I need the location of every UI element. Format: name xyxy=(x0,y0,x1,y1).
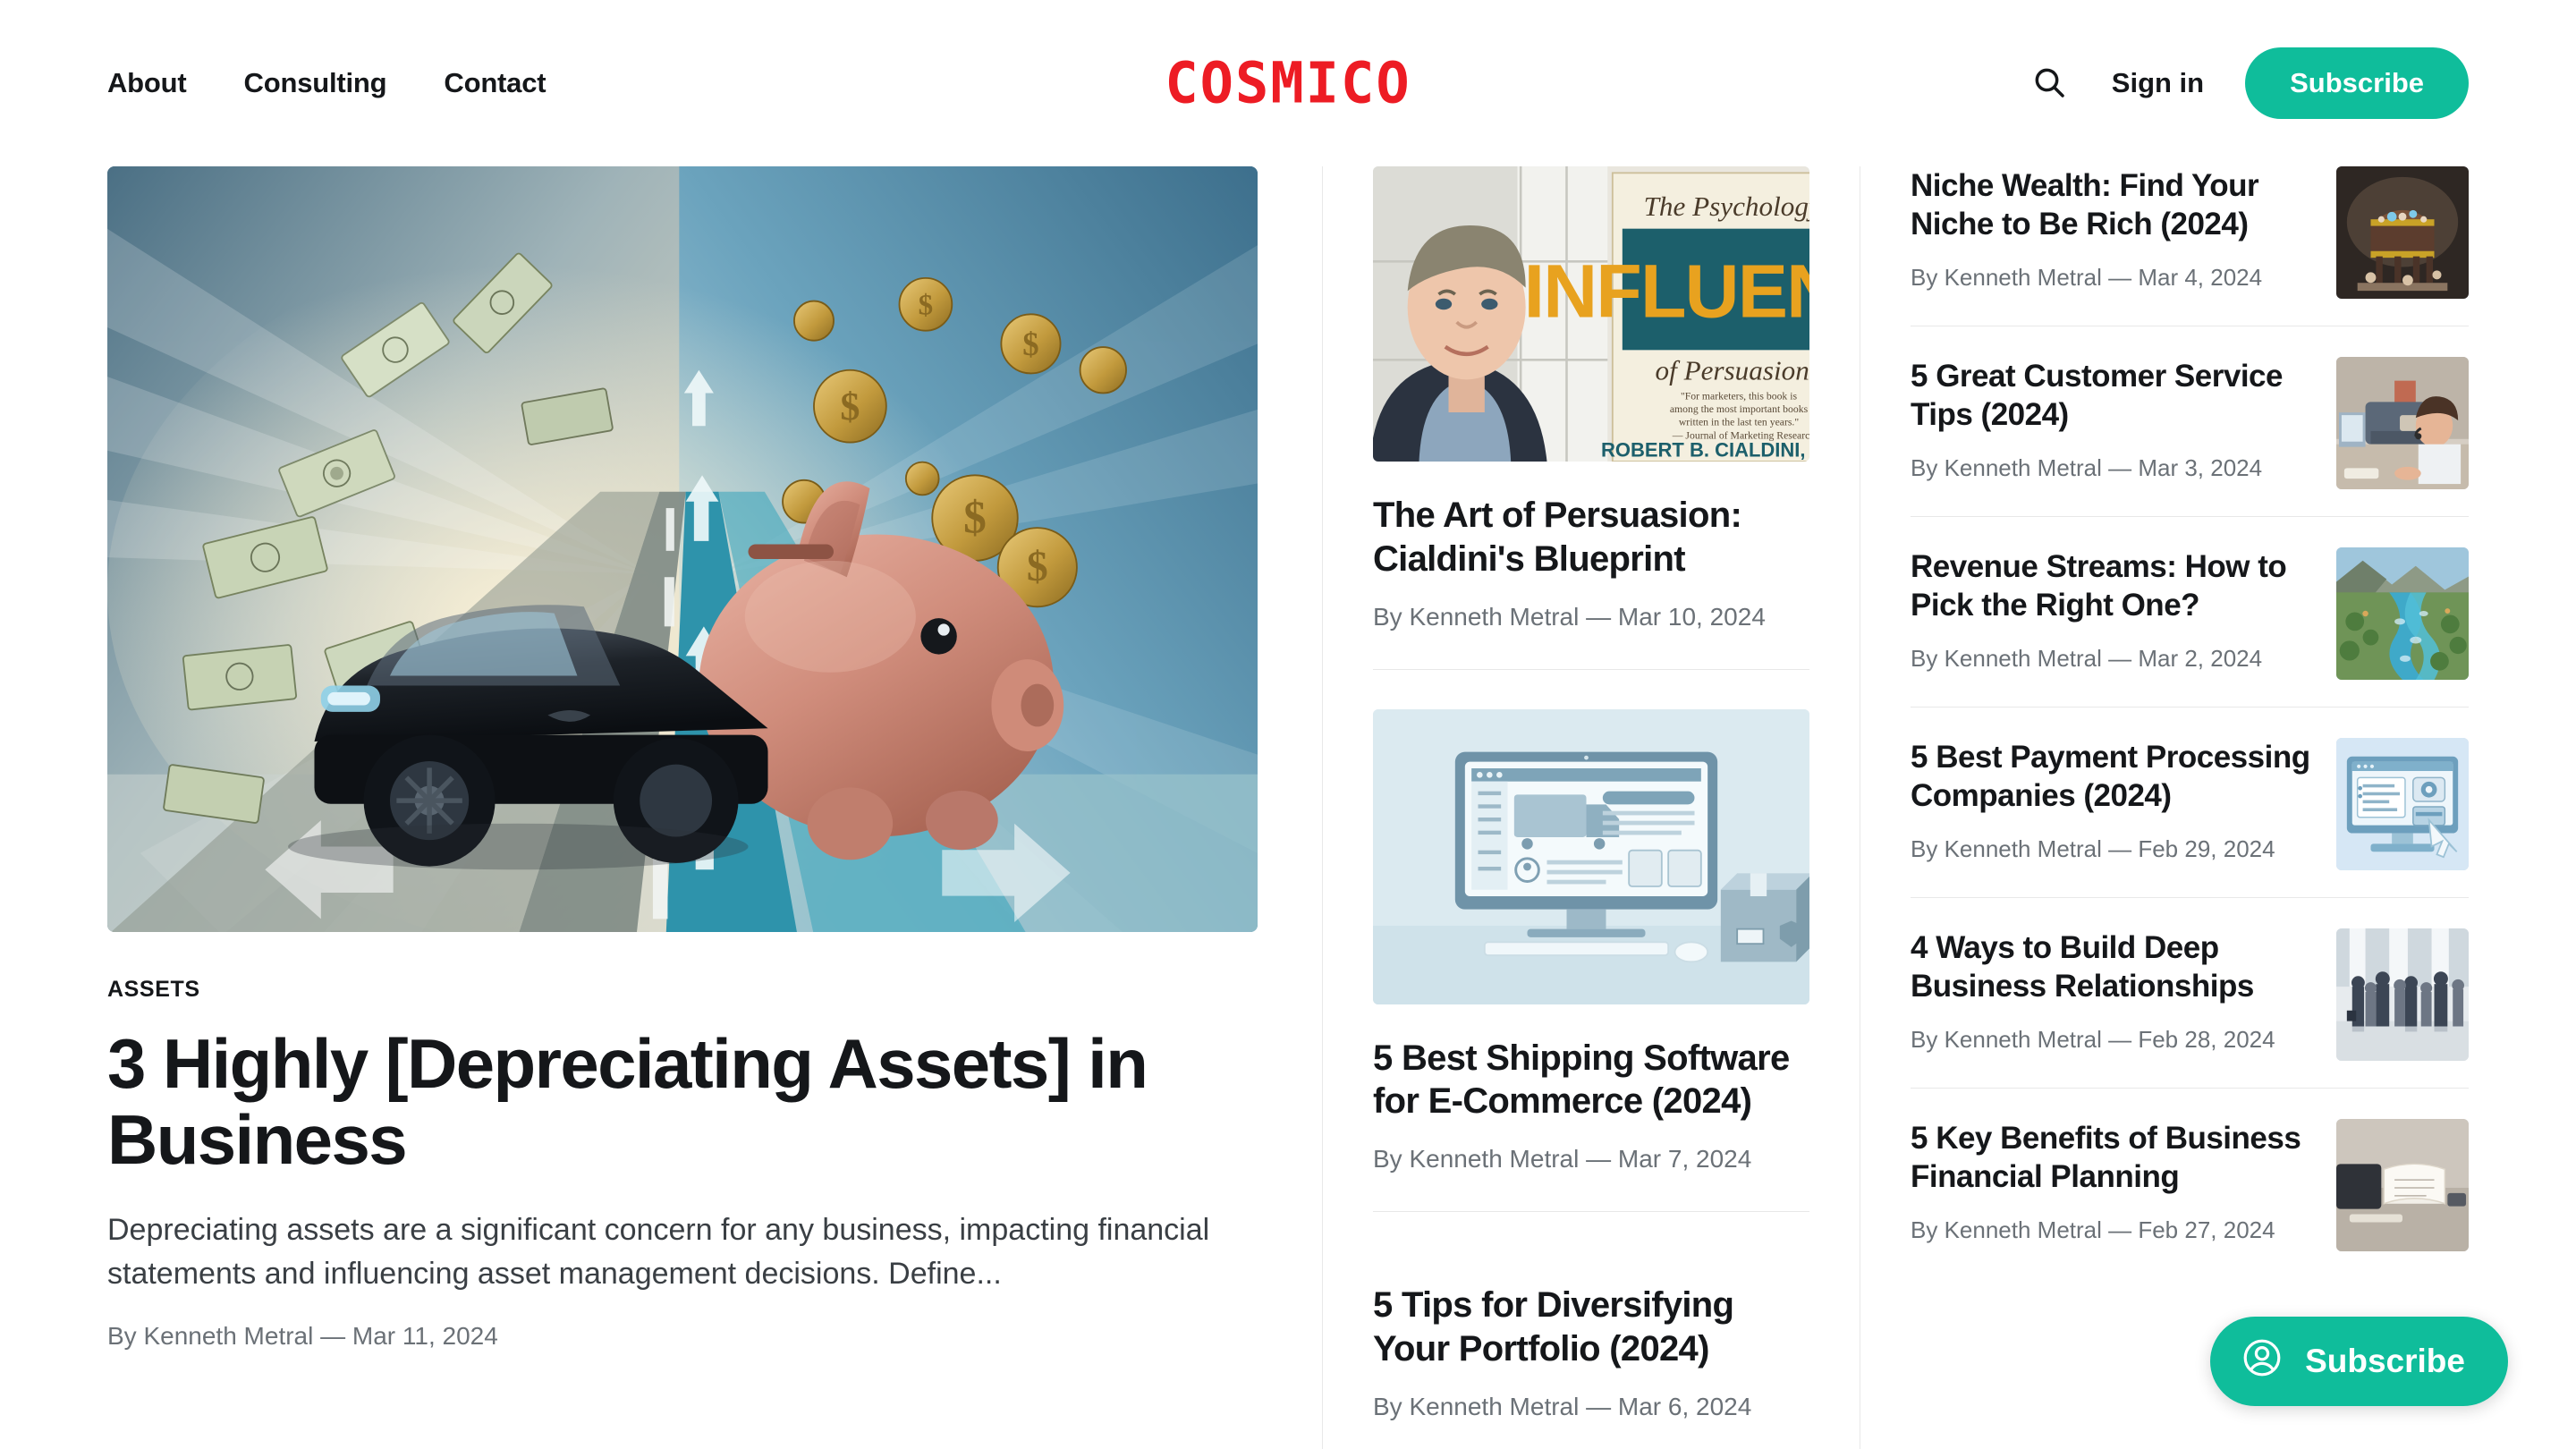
svg-text:among the most important books: among the most important books xyxy=(1670,403,1809,415)
svg-text:written in the last ten years.: written in the last ten years." xyxy=(1679,417,1800,428)
sidebar-article-title[interactable]: 5 Key Benefits of Business Financial Pla… xyxy=(1911,1119,2313,1197)
latest-articles-sidebar: Niche Wealth: Find Your Niche to Be Rich… xyxy=(1860,166,2469,1449)
secondary-article-column: The Psychology INFLUENCE of Persuasion "… xyxy=(1323,166,1860,1449)
customer-service-agent-icon xyxy=(2336,357,2469,489)
treasure-chest-icon xyxy=(2336,166,2469,299)
primary-navigation: About Consulting Contact xyxy=(107,67,546,99)
svg-text:$: $ xyxy=(1027,543,1048,590)
sidebar-article-item[interactable]: 5 Key Benefits of Business Financial Pla… xyxy=(1911,1088,2469,1278)
sidebar-article-meta: By Kenneth Metral — Feb 27, 2024 xyxy=(1911,1215,2313,1246)
sidebar-article-meta: By Kenneth Metral — Mar 3, 2024 xyxy=(1911,453,2313,484)
shipping-software-illustration xyxy=(1373,709,1809,1004)
sidebar-article-title[interactable]: 5 Best Payment Processing Companies (202… xyxy=(1911,738,2313,816)
featured-article-excerpt: Depreciating assets are a significant co… xyxy=(107,1208,1258,1297)
sidebar-article-item[interactable]: Revenue Streams: How to Pick the Right O… xyxy=(1911,516,2469,707)
account-circle-icon xyxy=(2241,1336,2284,1387)
sidebar-article-thumbnail[interactable] xyxy=(2336,928,2469,1061)
svg-text:INFLUENCE: INFLUENCE xyxy=(1524,250,1809,334)
site-logo-text: COSMICO xyxy=(1165,55,1411,111)
article-card-title[interactable]: The Art of Persuasion: Cialdini's Bluepr… xyxy=(1373,494,1809,581)
sidebar-article-thumbnail[interactable] xyxy=(2336,1119,2469,1251)
article-card-title[interactable]: 5 Tips for Diversifying Your Portfolio (… xyxy=(1373,1284,1809,1371)
sidebar-article-meta: By Kenneth Metral — Feb 29, 2024 xyxy=(1911,834,2313,865)
sidebar-article-meta: By Kenneth Metral — Mar 4, 2024 xyxy=(1911,262,2313,293)
financial-planning-desk-icon xyxy=(2336,1119,2469,1251)
main-content: $ $ $ $ $ xyxy=(0,166,2576,1449)
featured-article-title[interactable]: 3 Highly [Depreciating Assets] in Busine… xyxy=(107,1026,1258,1178)
search-icon xyxy=(2031,64,2067,103)
sidebar-article-meta: By Kenneth Metral — Feb 28, 2024 xyxy=(1911,1024,2313,1055)
svg-text:$: $ xyxy=(963,493,987,544)
svg-text:ROBERT B. CIALDINI, PH.D.: ROBERT B. CIALDINI, PH.D. xyxy=(1601,439,1809,462)
sidebar-article-thumbnail[interactable] xyxy=(2336,166,2469,299)
svg-text:$: $ xyxy=(1022,326,1038,362)
svg-text:$: $ xyxy=(840,385,860,428)
nav-link-about[interactable]: About xyxy=(107,67,187,99)
article-card-title[interactable]: 5 Best Shipping Software for E-Commerce … xyxy=(1373,1037,1809,1124)
svg-text:of Persuasion: of Persuasion xyxy=(1656,354,1809,386)
business-networking-icon xyxy=(2336,928,2469,1061)
sidebar-article-title[interactable]: Niche Wealth: Find Your Niche to Be Rich… xyxy=(1911,166,2313,244)
sidebar-article-item[interactable]: 5 Great Customer Service Tips (2024) By … xyxy=(1911,326,2469,516)
portal-subscribe-button[interactable]: Subscribe xyxy=(2210,1317,2508,1406)
article-card-meta: By Kenneth Metral — Mar 7, 2024 xyxy=(1373,1145,1809,1174)
svg-text:"For marketers, this book is: "For marketers, this book is xyxy=(1681,390,1798,402)
sidebar-article-thumbnail[interactable] xyxy=(2336,738,2469,870)
article-card[interactable]: The Psychology INFLUENCE of Persuasion "… xyxy=(1373,166,1809,669)
article-card-image[interactable]: The Psychology INFLUENCE of Persuasion "… xyxy=(1373,166,1809,462)
sidebar-article-item[interactable]: 5 Best Payment Processing Companies (202… xyxy=(1911,707,2469,897)
cialdini-influence-illustration: The Psychology INFLUENCE of Persuasion "… xyxy=(1373,166,1809,462)
featured-article[interactable]: $ $ $ $ $ xyxy=(107,166,1322,1449)
svg-text:$: $ xyxy=(919,289,934,321)
sidebar-article-title[interactable]: Revenue Streams: How to Pick the Right O… xyxy=(1911,547,2313,625)
article-card[interactable]: 5 Best Shipping Software for E-Commerce … xyxy=(1373,669,1809,1212)
sidebar-article-thumbnail[interactable] xyxy=(2336,357,2469,489)
revenue-streams-landscape-icon xyxy=(2336,547,2469,680)
payment-processing-icon xyxy=(2336,738,2469,870)
portal-subscribe-label: Subscribe xyxy=(2305,1343,2465,1380)
search-button[interactable] xyxy=(2028,62,2071,105)
sign-in-link[interactable]: Sign in xyxy=(2112,67,2204,99)
sidebar-article-thumbnail[interactable] xyxy=(2336,547,2469,680)
sidebar-article-item[interactable]: 4 Ways to Build Deep Business Relationsh… xyxy=(1911,897,2469,1088)
svg-text:The Psychology: The Psychology xyxy=(1644,191,1809,222)
article-card-meta: By Kenneth Metral — Mar 10, 2024 xyxy=(1373,603,1809,631)
article-card[interactable]: 5 Tips for Diversifying Your Portfolio (… xyxy=(1373,1211,1809,1449)
nav-link-contact[interactable]: Contact xyxy=(444,67,546,99)
sidebar-article-title[interactable]: 4 Ways to Build Deep Business Relationsh… xyxy=(1911,928,2313,1006)
subscribe-button[interactable]: Subscribe xyxy=(2245,47,2469,119)
featured-article-image[interactable]: $ $ $ $ $ xyxy=(107,166,1258,932)
depreciating-assets-illustration: $ $ $ $ $ xyxy=(107,166,1258,932)
header-actions: Sign in Subscribe xyxy=(2028,47,2469,119)
site-logo[interactable]: COSMICO xyxy=(1165,55,1411,111)
article-card-image[interactable] xyxy=(1373,709,1809,1004)
sidebar-article-item[interactable]: Niche Wealth: Find Your Niche to Be Rich… xyxy=(1911,166,2469,326)
sidebar-article-title[interactable]: 5 Great Customer Service Tips (2024) xyxy=(1911,357,2313,435)
article-card-meta: By Kenneth Metral — Mar 6, 2024 xyxy=(1373,1393,1809,1421)
sidebar-article-meta: By Kenneth Metral — Mar 2, 2024 xyxy=(1911,643,2313,674)
site-header: About Consulting Contact COSMICO Sign in… xyxy=(0,0,2576,166)
featured-article-meta: By Kenneth Metral — Mar 11, 2024 xyxy=(107,1322,1258,1351)
nav-link-consulting[interactable]: Consulting xyxy=(244,67,387,99)
featured-article-tag[interactable]: ASSETS xyxy=(107,977,200,1003)
